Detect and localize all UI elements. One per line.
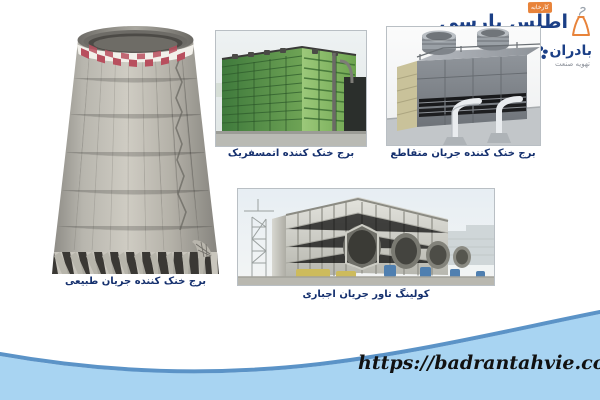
website-url[interactable]: https://badrantahvie.com (358, 352, 600, 374)
caption-forced-draft: کولینگ تاور جریان اجباری (275, 289, 457, 300)
badran-wordmark: بادران (549, 44, 592, 59)
caption-natural-draft: برج خنک کننده جریان طبیعی (48, 276, 223, 287)
poster-canvas: کارخانه اطلس پارسی بادران (0, 0, 600, 400)
figure-image-forced-draft (237, 188, 495, 286)
figure-image-atmospheric (215, 30, 367, 147)
badran-tagline: تهویه صنعت (555, 60, 590, 69)
figure-image-crossflow (386, 26, 541, 146)
caption-crossflow: برج خنک کننده جریان متقاطع (372, 148, 554, 159)
cooling-tower-icon (570, 6, 592, 36)
caption-atmospheric: برج خنک کننده اتمسفریک (215, 148, 367, 159)
figure-image-natural (48, 18, 223, 278)
